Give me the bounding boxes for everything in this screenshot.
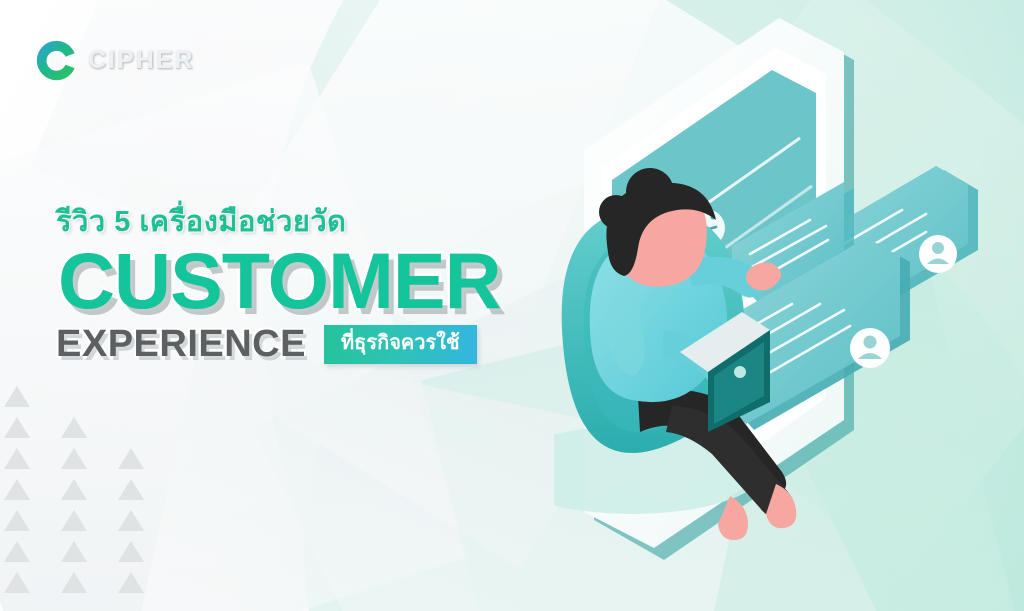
cipher-c-logo-icon <box>34 38 79 83</box>
headline-subtitle: EXPERIENCE <box>56 323 306 366</box>
triangle-pattern <box>4 386 144 603</box>
triangle-icon <box>118 479 144 500</box>
headline-eyebrow: รีวิว 5 เครื่องมือช่วยวัด <box>56 205 576 240</box>
triangle-icon <box>4 448 30 469</box>
triangle-icon <box>4 386 30 407</box>
triangle-icon <box>4 417 30 438</box>
triangle-icon <box>4 541 30 562</box>
triangle-row <box>4 386 144 407</box>
triangle-icon <box>61 541 87 562</box>
avatar-icon <box>919 235 957 273</box>
brand-logo[interactable]: CIPHER <box>34 38 194 83</box>
triangle-icon <box>61 448 87 469</box>
triangle-icon <box>61 479 87 500</box>
triangle-icon <box>118 510 144 531</box>
triangle-row <box>4 448 144 469</box>
brand-name: CIPHER <box>88 46 194 75</box>
triangle-icon <box>118 572 144 593</box>
triangle-row <box>4 510 144 531</box>
hero-illustration <box>554 0 1024 611</box>
triangle-icon <box>4 510 30 531</box>
triangle-row <box>4 541 144 562</box>
triangle-row <box>4 572 144 593</box>
headline-badge: ที่ธุรกิจควรใช้ <box>324 325 477 364</box>
triangle-icon <box>4 572 30 593</box>
triangle-row <box>4 417 144 438</box>
triangle-icon <box>118 448 144 469</box>
triangle-icon <box>4 479 30 500</box>
avatar-icon <box>850 328 890 368</box>
headline-title: CUSTOMER <box>58 242 576 319</box>
triangle-icon <box>61 510 87 531</box>
triangle-icon <box>118 541 144 562</box>
headline-block: รีวิว 5 เครื่องมือช่วยวัด CUSTOMER EXPER… <box>56 205 576 366</box>
triangle-icon <box>61 417 87 438</box>
banner-root: CIPHER รีวิว 5 เครื่องมือช่วยวัด CUSTOME… <box>0 0 1024 611</box>
headline-subtitle-row: EXPERIENCE ที่ธุรกิจควรใช้ <box>56 323 576 366</box>
triangle-row <box>4 479 144 500</box>
hair-bun <box>626 168 674 216</box>
triangle-icon <box>61 572 87 593</box>
